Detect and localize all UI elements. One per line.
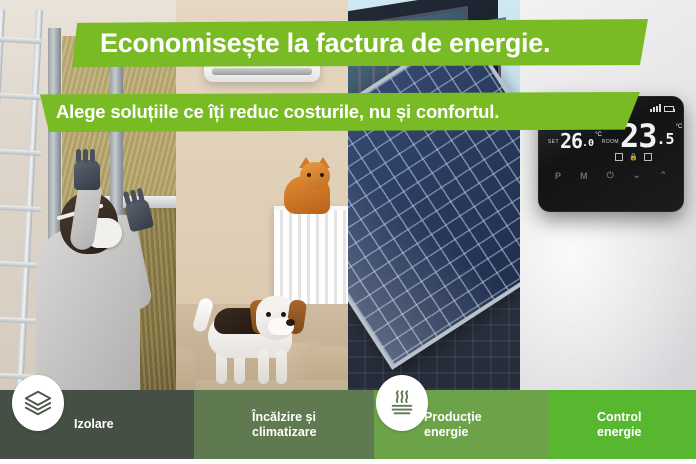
category-bar: Izolare Încălzire și climatizare xyxy=(0,390,696,459)
ladder-rung xyxy=(0,37,41,44)
category-incalzire-climatizare[interactable]: Încălzire și climatizare xyxy=(194,390,374,459)
set-temperature-value: 26 xyxy=(560,133,582,150)
glove-finger xyxy=(90,149,95,163)
energy-saving-banner: 10:00 ☉ ⏱ 2 SET 26 xyxy=(0,0,696,464)
dog-eye xyxy=(281,312,286,317)
cat-eye xyxy=(307,173,311,177)
bottom-white-strip xyxy=(0,459,696,464)
category-label-incalzire: Încălzire și climatizare xyxy=(244,410,317,440)
set-temperature-unit: °C xyxy=(595,132,602,138)
key-up[interactable]: ⌃ xyxy=(659,170,667,181)
cat-head xyxy=(300,162,330,189)
headline-band-primary: Economisește la factura de energie. xyxy=(72,19,648,67)
category-control-energie[interactable]: Control energie xyxy=(549,390,696,459)
key-power[interactable]: ⏻ xyxy=(607,170,614,181)
ladder-rung xyxy=(0,149,41,156)
battery-icon xyxy=(664,106,674,112)
category-label-control: Control energie xyxy=(589,410,641,440)
calendar-icon xyxy=(615,153,623,161)
lock-icon: 🔒 xyxy=(629,153,638,161)
room-temperature-decimal: .5 xyxy=(657,130,675,148)
thermostat-touch-keys[interactable]: P M ⏻ ⌄ ⌃ xyxy=(548,170,674,181)
key-down[interactable]: ⌄ xyxy=(633,170,641,181)
set-label: SET xyxy=(548,139,559,145)
set-temperature-decimal: .0 xyxy=(582,138,594,149)
thermostat-signal-group xyxy=(650,104,674,112)
category-label-productie: Producție energie xyxy=(416,410,482,440)
dog-nose xyxy=(286,319,295,326)
dog-leg xyxy=(258,350,269,384)
headline-line-2: Alege soluțiile ce îți reduc costurile, … xyxy=(56,101,499,123)
dog-eye xyxy=(266,312,271,317)
set-temperature-group: SET 26 .0 °C xyxy=(548,132,602,150)
headline-line-1: Economisește la factura de energie. xyxy=(100,28,550,59)
category-label-izolare: Izolare xyxy=(66,417,114,432)
signal-icon xyxy=(650,104,661,112)
cat-eye xyxy=(320,173,324,177)
work-glove xyxy=(74,160,100,190)
thermostat-indicator-row: 🔒 xyxy=(548,153,674,161)
room-label: ROOM xyxy=(602,139,619,145)
category-izolare[interactable]: Izolare xyxy=(0,390,194,459)
headline-band-secondary: Alege soluțiile ce îți reduc costurile, … xyxy=(40,92,640,132)
window-icon xyxy=(644,153,652,161)
ladder-rung xyxy=(0,93,41,100)
key-program[interactable]: P xyxy=(555,171,561,181)
key-mode[interactable]: M xyxy=(580,171,588,181)
room-temperature-unit: °C xyxy=(676,124,683,130)
layers-icon xyxy=(12,375,64,431)
orange-cat xyxy=(278,160,336,214)
dog-leg xyxy=(276,350,287,384)
glove-finger xyxy=(76,149,81,163)
glove-finger xyxy=(137,188,145,203)
beagle-dog xyxy=(204,284,312,392)
heat-waves-icon xyxy=(376,375,428,431)
glove-finger xyxy=(83,149,88,163)
